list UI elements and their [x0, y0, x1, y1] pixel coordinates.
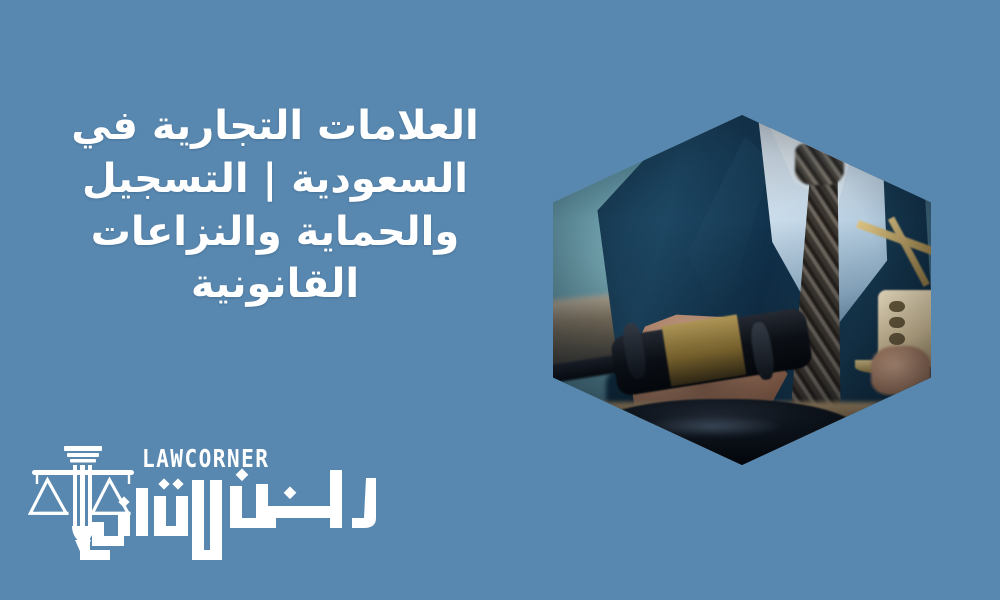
site-logo[interactable]: LAWCORNER	[20, 438, 380, 568]
article-banner: العلامات التجارية في السعودية | التسجيل …	[0, 0, 1000, 600]
page-title-line-4: القانونية	[40, 258, 510, 311]
logo-wordmark-arabic	[80, 466, 380, 562]
page-title-line-1: العلامات التجارية في	[40, 100, 510, 153]
page-title-line-3: والحماية والنزاعات	[40, 206, 510, 259]
photo-color-grade	[553, 115, 931, 465]
page-title: العلامات التجارية في السعودية | التسجيل …	[40, 100, 510, 311]
hero-photo-hexagon	[553, 115, 931, 465]
page-title-line-2: السعودية | التسجيل	[40, 153, 510, 206]
